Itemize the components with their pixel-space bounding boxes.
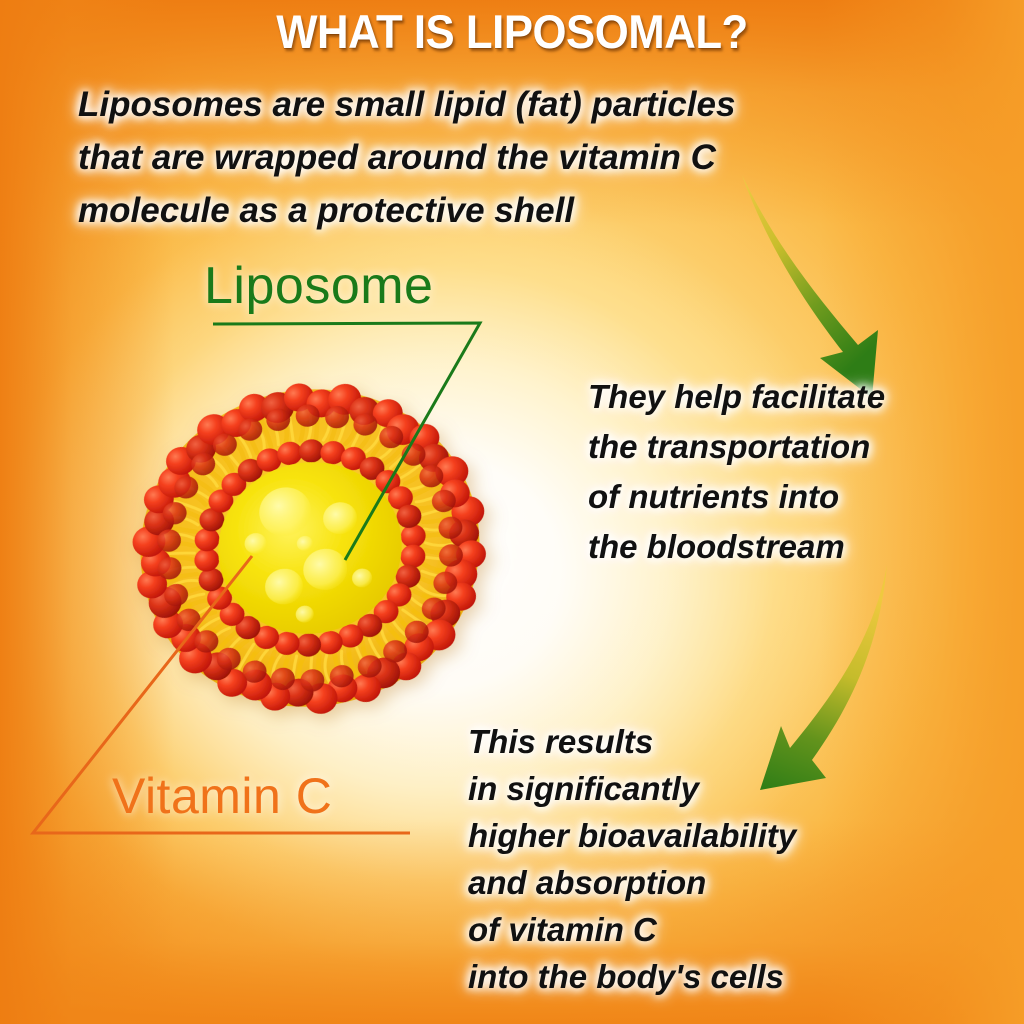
intro-line: molecule as a protective shell — [78, 184, 978, 237]
page-title: WHAT IS LIPOSOMAL? — [36, 4, 988, 59]
callout-line: the transportation — [588, 422, 1018, 472]
callout-line: in significantly — [468, 765, 988, 812]
callout-line: and absorption — [468, 859, 988, 906]
liposome-label: Liposome — [204, 256, 433, 316]
callout-result: This results in significantly higher bio… — [468, 718, 988, 1000]
callout-line: the bloodstream — [588, 522, 1018, 572]
liposome-leader-line — [213, 323, 480, 560]
callout-line: of vitamin C — [468, 906, 988, 953]
infographic-poster: WHAT IS LIPOSOMAL? Liposomes are small l… — [0, 0, 1024, 1024]
intro-line: Liposomes are small lipid (fat) particle… — [78, 78, 978, 131]
callout-transport: They help facilitate the transportation … — [588, 372, 1018, 572]
intro-line: that are wrapped around the vitamin C — [78, 131, 978, 184]
callout-line: This results — [468, 718, 988, 765]
callout-line: into the body's cells — [468, 953, 988, 1000]
vitamin-c-label: Vitamin C — [112, 767, 332, 825]
callout-line: of nutrients into — [588, 472, 1018, 522]
callout-line: higher bioavailability — [468, 812, 988, 859]
intro-paragraph: Liposomes are small lipid (fat) particle… — [78, 78, 978, 237]
callout-line: They help facilitate — [588, 372, 1018, 422]
